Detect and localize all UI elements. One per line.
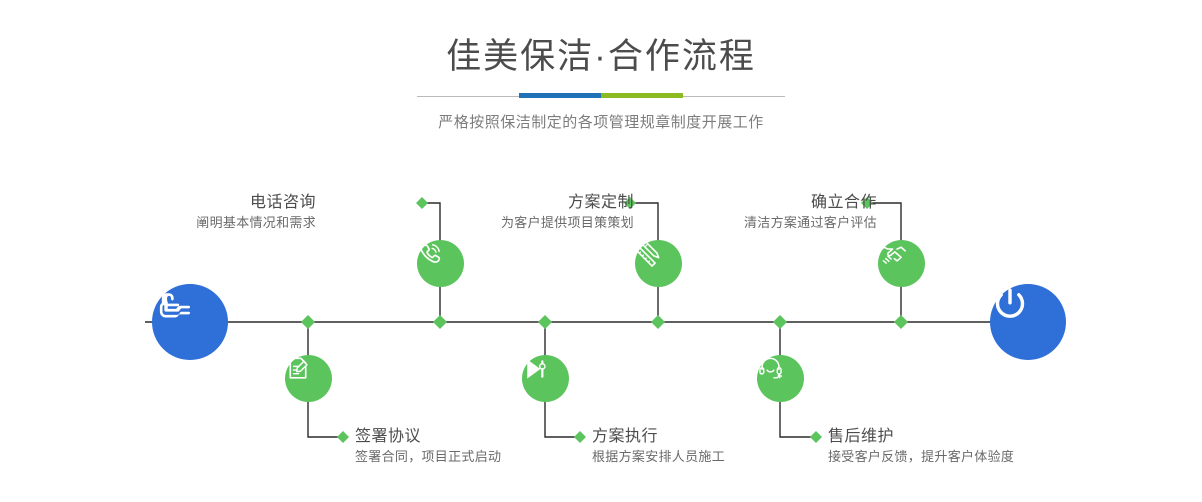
node-title-step-1: 电话咨询 — [196, 193, 316, 213]
node-icon-step-6[interactable] — [757, 355, 804, 402]
axis-diamond-1 — [433, 315, 447, 329]
node-desc-step-2: 签署合同，项目正式启动 — [355, 447, 501, 467]
node-label-step-6: 售后维护 接受客户反馈，提升客户体验度 — [828, 427, 1014, 467]
node-desc-step-3: 为客户提供项目策策划 — [501, 213, 634, 233]
headset-support-icon — [757, 355, 784, 382]
node-desc-step-5: 清洁方案通过客户评估 — [744, 213, 877, 233]
label-diamond-4 — [574, 431, 586, 443]
node-label-step-2: 签署协议 签署合同，项目正式启动 — [355, 427, 501, 467]
end-endpoint[interactable] — [990, 284, 1066, 360]
node-label-step-4: 方案执行 根据方案安排人员施工 — [592, 427, 725, 467]
node-icon-step-4[interactable] — [522, 355, 569, 402]
label-diamond-1 — [416, 197, 428, 209]
axis-diamond-5 — [894, 315, 908, 329]
start-endpoint[interactable] — [152, 284, 228, 360]
label-diamond-markers — [337, 197, 873, 443]
node-title-step-6: 售后维护 — [828, 427, 1014, 447]
node-icon-step-3[interactable] — [635, 240, 682, 287]
node-desc-step-1: 阐明基本情况和需求 — [196, 213, 316, 233]
axis-diamond-2 — [301, 315, 315, 329]
node-title-step-3: 方案定制 — [501, 193, 634, 213]
play-execute-icon — [522, 355, 550, 383]
node-desc-step-4: 根据方案安排人员施工 — [592, 447, 725, 467]
power-button-icon — [990, 284, 1030, 324]
axis-diamond-4 — [538, 315, 552, 329]
axis-diamond-6 — [773, 315, 787, 329]
node-icon-step-1[interactable] — [417, 240, 464, 287]
axis-diamond-3 — [651, 315, 665, 329]
flow-diagram-page: 佳美保洁·合作流程 严格按照保洁制定的各项管理规章制度开展工作 — [0, 0, 1202, 502]
label-diamond-6 — [810, 431, 822, 443]
pencil-ruler-icon — [635, 240, 662, 267]
phone-call-icon — [417, 240, 444, 267]
label-diamond-2 — [337, 431, 349, 443]
node-title-step-5: 确立合作 — [744, 193, 877, 213]
document-pen-icon — [285, 355, 311, 381]
node-title-step-2: 签署协议 — [355, 427, 501, 447]
node-icon-step-2[interactable] — [285, 355, 332, 402]
node-label-step-5: 确立合作 清洁方案通过客户评估 — [744, 193, 877, 233]
node-label-step-3: 方案定制 为客户提供项目策策划 — [501, 193, 634, 233]
node-title-step-4: 方案执行 — [592, 427, 725, 447]
pointing-hand-icon — [152, 284, 194, 326]
node-desc-step-6: 接受客户反馈，提升客户体验度 — [828, 447, 1014, 467]
handshake-icon — [878, 240, 907, 269]
node-icon-step-5[interactable] — [878, 240, 925, 287]
node-label-step-1: 电话咨询 阐明基本情况和需求 — [196, 193, 316, 233]
process-timeline: 电话咨询 阐明基本情况和需求 签署协议 签署合同，项目正式启动 — [0, 0, 1202, 502]
